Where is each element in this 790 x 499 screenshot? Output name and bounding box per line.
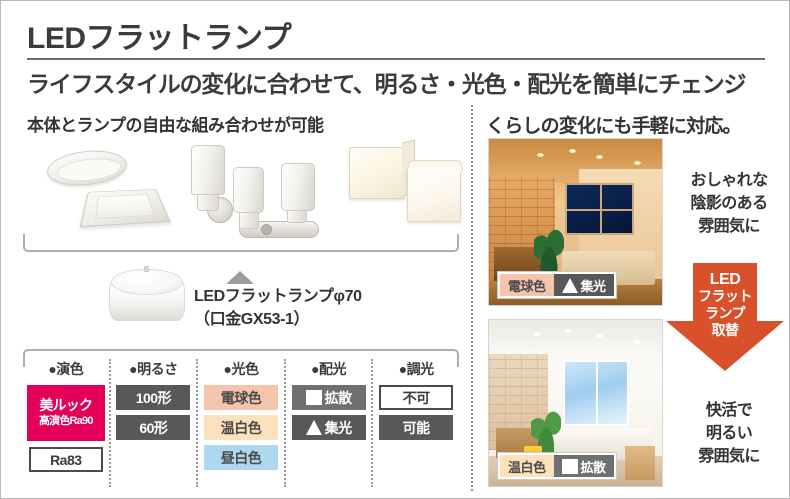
right-panel-heading: くらしの変化にも手軽に対応。 xyxy=(486,111,741,138)
page-subtitle: ライフスタイルの変化に合わせて、明るさ・光色・配光を簡単にチェンジ xyxy=(27,65,745,99)
spec-column-header: ●演色 xyxy=(48,359,83,379)
top-scene-caption-line1: おしゃれな xyxy=(673,169,785,192)
spec-cell-label: 100形 xyxy=(136,388,171,408)
spec-cell-label: 電球色 xyxy=(221,388,262,408)
spec-cell-電球色[interactable]: 電球色 xyxy=(204,385,278,410)
spec-cell-集光[interactable]: 集光 xyxy=(292,415,366,440)
bottom-scene-caption-line1: 快活で xyxy=(673,399,785,422)
photo-badge-label: 温白色 xyxy=(508,457,546,476)
title-divider xyxy=(27,58,765,60)
spec-column-1: ●明るさ100形60形 xyxy=(111,359,199,487)
arrow-label-line4: 取替 xyxy=(666,322,784,339)
square-downlight-icon xyxy=(80,189,171,227)
spec-cell-label: 集光 xyxy=(325,418,352,438)
photo-badge-温白色: 温白色 xyxy=(500,455,554,477)
living-room-day-photo: 温白色拡散 xyxy=(488,319,663,487)
top-scene-caption-line3: 雰囲気に xyxy=(673,215,785,238)
photo-badges-night: 電球色集光 xyxy=(497,271,617,299)
fixture-group-bracket xyxy=(23,234,459,252)
spec-column-0: ●演色美ルック高演色Ra90Ra83 xyxy=(23,359,111,487)
living-room-night-photo: 電球色集光 xyxy=(488,138,663,306)
spec-cell-温白色[interactable]: 温白色 xyxy=(204,415,278,440)
spec-cell-label: 不可 xyxy=(403,388,430,408)
round-downlight-icon xyxy=(45,147,128,189)
spot-icon xyxy=(562,278,578,293)
spec-column-header: ●光色 xyxy=(224,359,259,379)
spec-table: ●演色美ルック高演色Ra90Ra83●明るさ100形60形●光色電球色温白色昼白… xyxy=(23,359,459,487)
arrow-label-line1: LED xyxy=(666,271,784,288)
photo-badge-label: 集光 xyxy=(581,276,606,295)
lamp-replacement-arrow: LED フラット ランプ 取替 xyxy=(666,263,784,371)
page-title: LEDフラットランプ xyxy=(27,13,291,57)
spec-column-4: ●調光不可可能 xyxy=(373,359,459,487)
arrow-label: LED フラット ランプ 取替 xyxy=(666,271,784,339)
spec-cell-label: Ra83 xyxy=(50,452,81,468)
spec-cell-label: 拡散 xyxy=(325,388,352,408)
mirook-badge[interactable]: 美ルック高演色Ra90 xyxy=(27,385,105,441)
lamp-caption-line2: （口金GX53-1） xyxy=(194,308,362,331)
spec-column-header: ●調光 xyxy=(399,359,434,379)
cube-bracket-light-left-icon xyxy=(349,147,405,199)
cube-bracket-light-right-icon xyxy=(407,167,461,222)
spec-cell-label: 温白色 xyxy=(221,418,262,438)
lamp-caption: LEDフラットランプφ70 （口金GX53-1） xyxy=(194,285,362,331)
diffuse-icon xyxy=(562,459,578,474)
top-scene-caption-line2: 陰影のある xyxy=(673,192,785,215)
left-panel-heading: 本体とランプの自由な組み合わせが可能 xyxy=(27,111,324,136)
panel-divider xyxy=(471,105,473,491)
bottom-scene-caption: 快活で明るい雰囲気に xyxy=(673,399,785,468)
photo-badge-電球色: 電球色 xyxy=(500,274,554,296)
diffuse-icon xyxy=(306,390,322,405)
spot-icon xyxy=(306,420,322,435)
bottom-scene-caption-line2: 明るい xyxy=(673,422,785,445)
photo-badge-label: 電球色 xyxy=(508,276,546,295)
led-flat-lamp-icon xyxy=(109,269,185,327)
spec-cell-拡散[interactable]: 拡散 xyxy=(292,385,366,410)
spec-cell-Ra83[interactable]: Ra83 xyxy=(29,447,103,472)
spec-column-header: ●明るさ xyxy=(129,359,177,379)
spec-cell-昼白色[interactable]: 昼白色 xyxy=(204,445,278,470)
spec-column-3: ●配光拡散集光 xyxy=(286,359,374,487)
bottom-scene-caption-line3: 雰囲気に xyxy=(673,445,785,468)
spec-column-header: ●配光 xyxy=(311,359,346,379)
photo-badge-拡散: 拡散 xyxy=(554,455,614,477)
mirook-badge-main: 美ルック xyxy=(39,397,92,413)
spec-cell-100形[interactable]: 100形 xyxy=(116,385,190,410)
spec-cell-label: 60形 xyxy=(139,418,167,438)
infographic-page: LEDフラットランプ ライフスタイルの変化に合わせて、明るさ・光色・配光を簡単に… xyxy=(0,0,790,499)
spec-column-2: ●光色電球色温白色昼白色 xyxy=(198,359,286,487)
arrow-label-line3: ランプ xyxy=(666,305,784,322)
spec-cell-label: 昼白色 xyxy=(221,448,262,468)
top-scene-caption: おしゃれな陰影のある雰囲気に xyxy=(673,169,785,238)
lamp-caption-line1: LEDフラットランプφ70 xyxy=(194,285,362,308)
up-arrow-icon xyxy=(226,271,254,284)
spec-cell-可能[interactable]: 可能 xyxy=(379,415,453,440)
photo-badge-label: 拡散 xyxy=(581,457,606,476)
mirook-badge-sub: 高演色Ra90 xyxy=(39,413,93,429)
spec-cell-label: 可能 xyxy=(403,418,430,438)
spec-cell-60形[interactable]: 60形 xyxy=(116,415,190,440)
photo-badges-day: 温白色拡散 xyxy=(497,452,617,480)
photo-badge-集光: 集光 xyxy=(554,274,614,296)
spec-cell-不可[interactable]: 不可 xyxy=(379,385,453,410)
arrow-label-line2: フラット xyxy=(666,288,784,305)
